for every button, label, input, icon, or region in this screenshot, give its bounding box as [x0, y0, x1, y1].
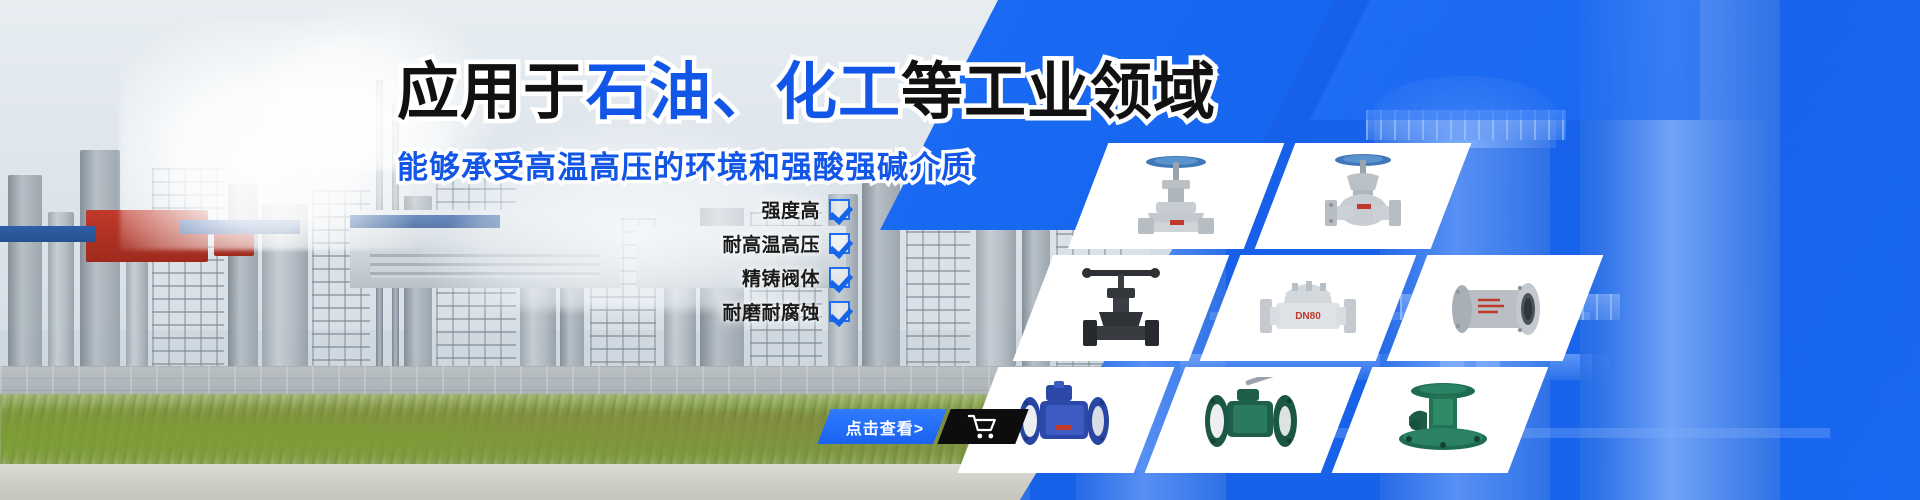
- check-icon: [829, 199, 850, 220]
- product-tile-forged-gate-valve-black[interactable]: [1013, 255, 1230, 361]
- headline-part2: 等工业领域: [901, 58, 1216, 127]
- cta-label: 点击查看>: [846, 415, 924, 439]
- lever-ball-valve-green-icon: [1191, 377, 1315, 463]
- product-tile-flanged-plug-valve-green[interactable]: [1332, 367, 1549, 473]
- feature-item: 耐磨耐腐蚀: [722, 298, 850, 325]
- feature-item: 强度高: [761, 196, 850, 223]
- feature-label: 耐磨耐腐蚀: [722, 298, 820, 325]
- headline-highlight: 石油、化工: [586, 58, 901, 127]
- gate-valve-grey-icon: [1118, 150, 1234, 242]
- check-valve-marking: DN80: [1295, 311, 1321, 322]
- shopping-cart-icon: [968, 414, 998, 440]
- promo-banner: DN80: [0, 0, 1920, 500]
- check-icon: [829, 233, 850, 254]
- feature-item: 精铸阀体: [742, 264, 850, 291]
- lift-check-valve-icon: [1436, 270, 1554, 346]
- view-details-button[interactable]: 点击查看>: [817, 409, 947, 444]
- feature-item: 耐高温高压: [722, 230, 850, 257]
- globe-valve-flanged-icon: [1303, 150, 1423, 242]
- feature-list: 强度高 耐高温高压 精铸阀体 耐磨耐腐蚀: [610, 196, 850, 325]
- feature-label: 强度高: [761, 196, 820, 223]
- swing-check-valve-icon: DN80: [1246, 269, 1370, 347]
- cart-button[interactable]: [938, 409, 1029, 444]
- product-tile-gate-valve-grey[interactable]: [1068, 143, 1285, 249]
- check-icon: [829, 301, 850, 322]
- forged-gate-valve-black-icon: [1065, 262, 1177, 354]
- flanged-plug-valve-green-icon: [1381, 377, 1499, 463]
- product-tile-lever-ball-valve-green[interactable]: [1145, 367, 1362, 473]
- headline-part1: 应用于: [397, 58, 586, 127]
- product-tile-swing-check-valve[interactable]: DN80: [1200, 255, 1417, 361]
- feature-label: 精铸阀体: [742, 264, 820, 291]
- product-tile-lift-check-valve[interactable]: [1387, 255, 1604, 361]
- feature-label: 耐高温高压: [722, 230, 820, 257]
- page-subtitle: 能够承受高温高压的环境和强酸强碱介质: [397, 142, 973, 187]
- page-title: 应用于石油、化工等工业领域: [397, 62, 1216, 124]
- check-icon: [829, 267, 850, 288]
- product-tile-globe-valve-flanged[interactable]: [1255, 143, 1472, 249]
- cta-group[interactable]: 点击查看>: [824, 409, 1022, 444]
